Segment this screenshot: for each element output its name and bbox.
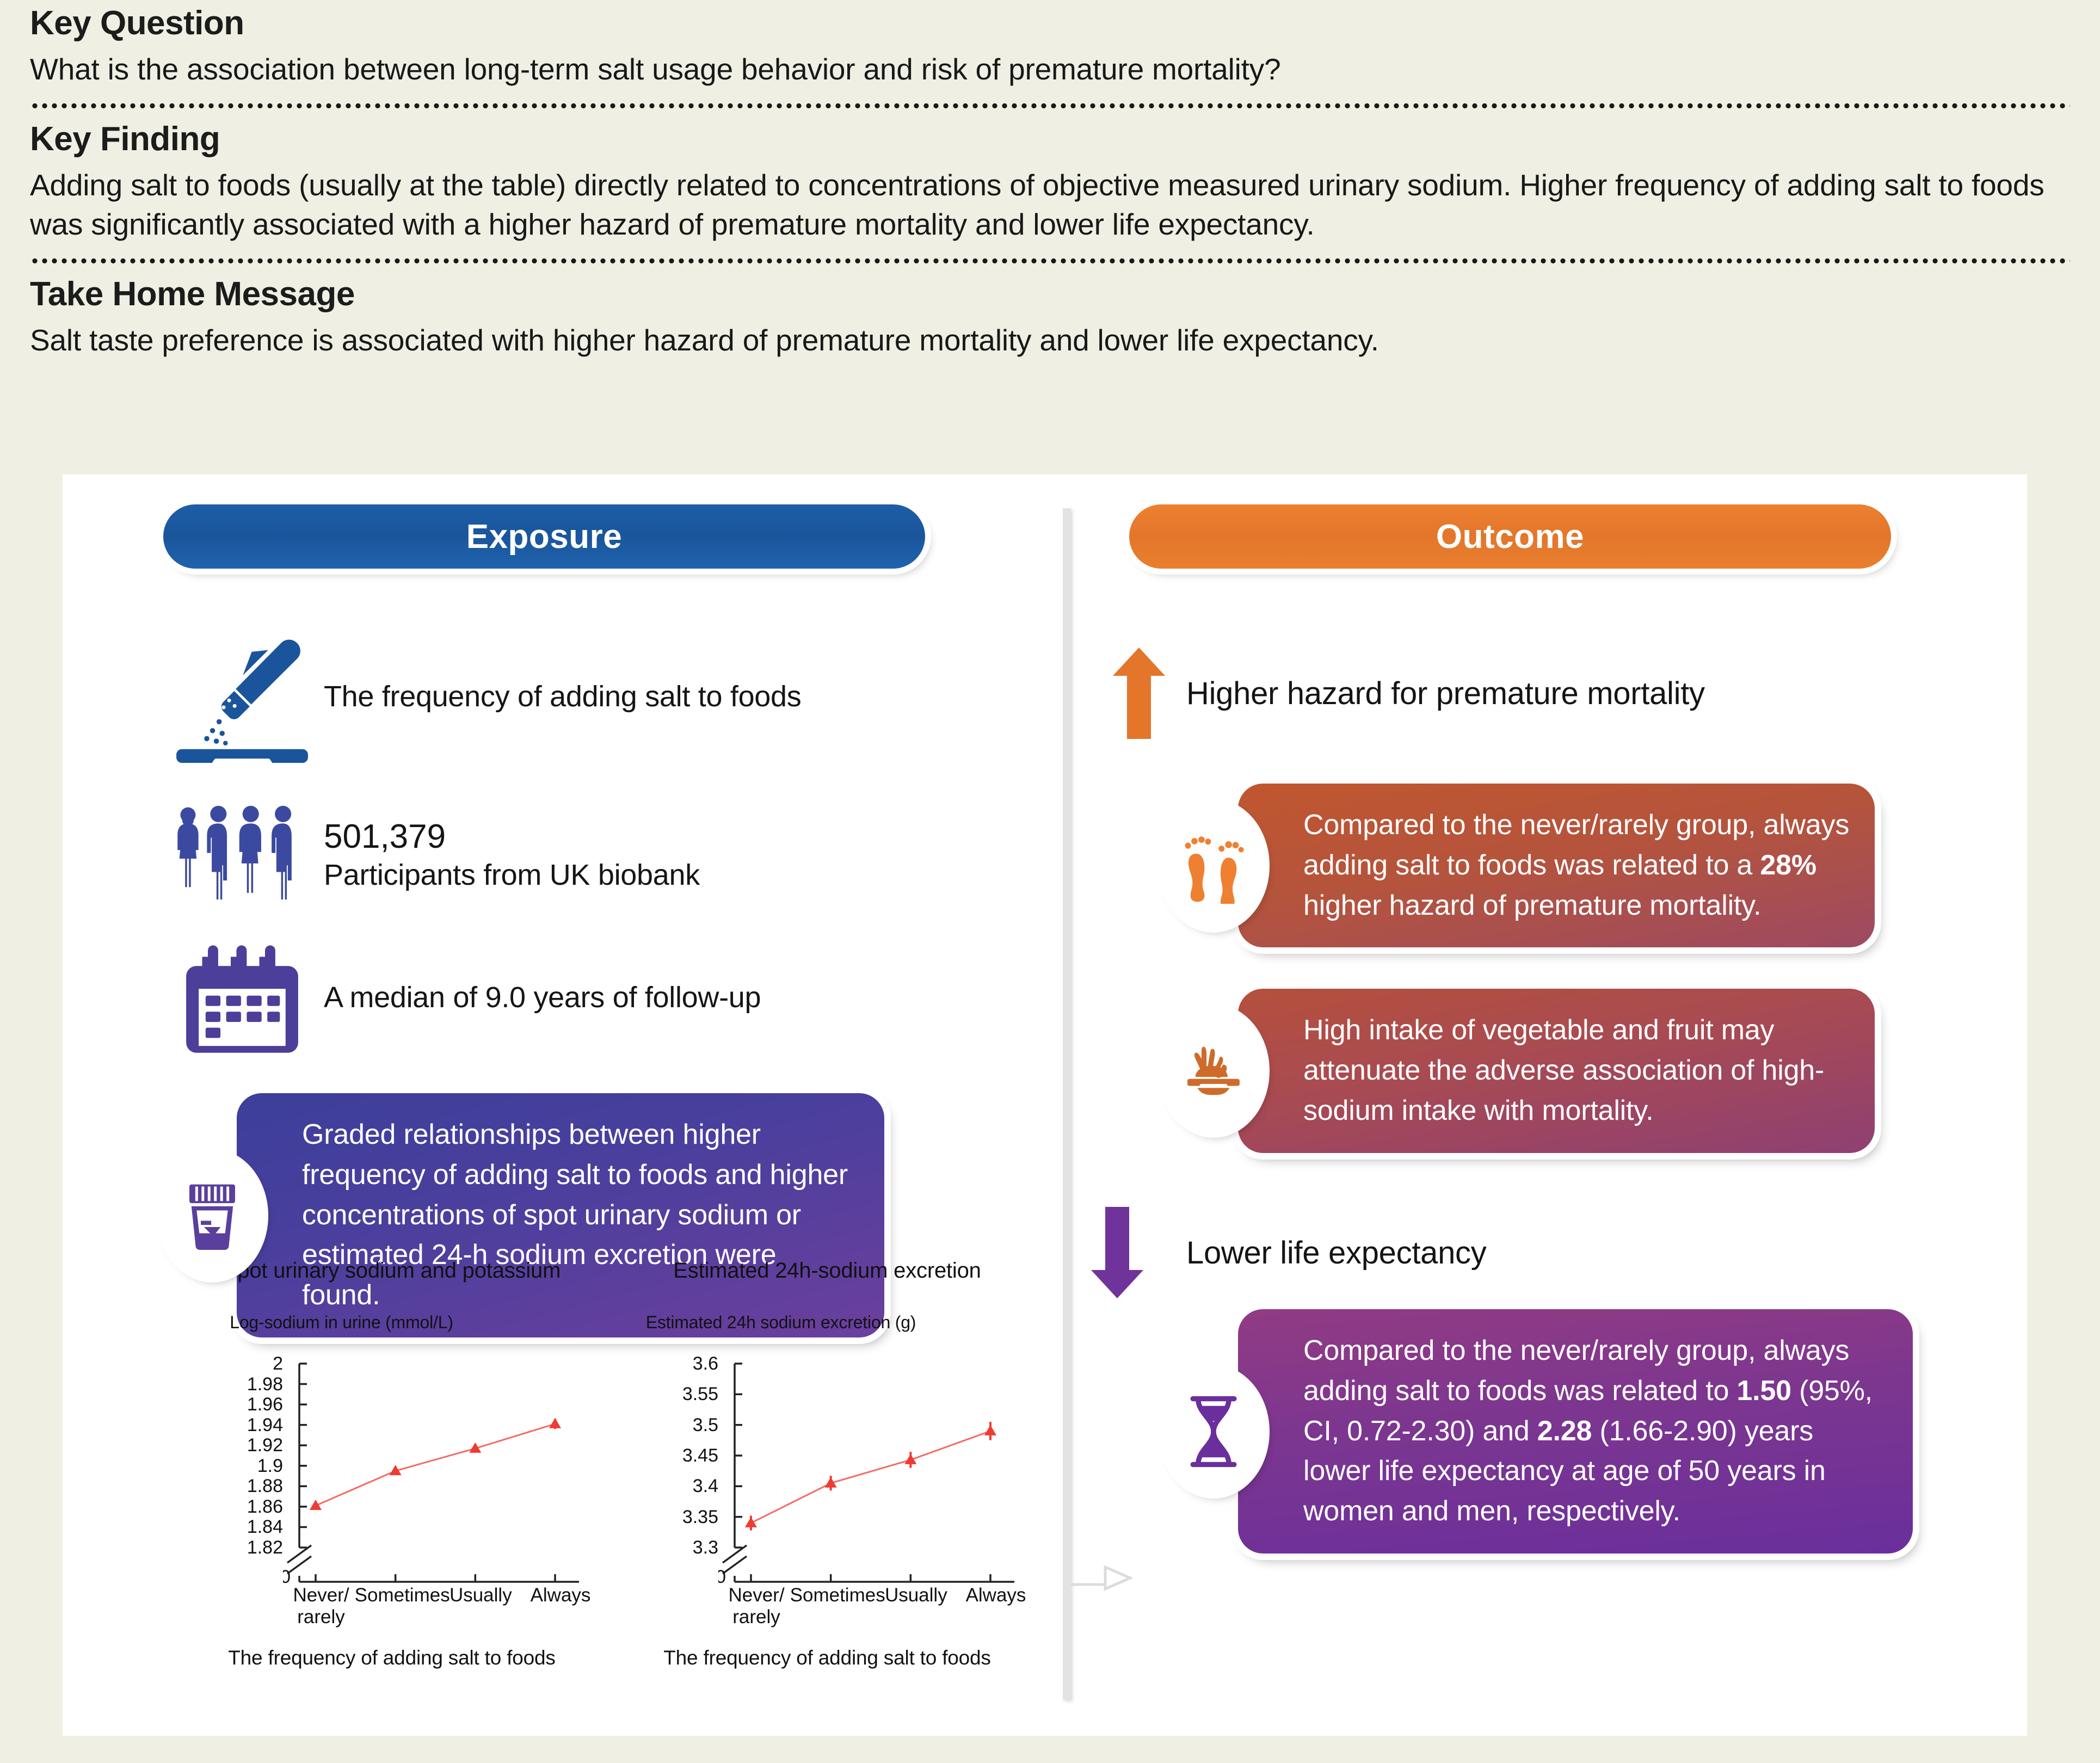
outcome-heading-2-label: Lower life expectancy bbox=[1186, 1235, 1486, 1271]
key-question-title: Key Question bbox=[30, 5, 2070, 41]
divider-dotted-1 bbox=[30, 103, 2070, 108]
chart1-plot: 0 bbox=[283, 1356, 582, 1585]
chart2-x-tick-labels: Never/ rarelySometimesUsuallyAlways bbox=[724, 1585, 1018, 1644]
key-question-body: What is the association between long-ter… bbox=[30, 50, 2070, 89]
key-finding-body: Adding salt to foods (usually at the tab… bbox=[30, 165, 2070, 244]
callout-vegetable-fruit: High intake of vegetable and fruit may a… bbox=[1238, 989, 1875, 1152]
x-tick-label: Never/ rarely bbox=[710, 1585, 803, 1629]
chart2-plot: 0 bbox=[718, 1356, 1018, 1585]
chart1-y-axis-title: Log-sodium in urine (mmol/L) bbox=[101, 1312, 582, 1356]
outcome-heading-higher-hazard: Higher hazard for premature mortality bbox=[1091, 648, 2011, 739]
y-tick-label: 3.45 bbox=[682, 1446, 718, 1465]
arrow-up-icon bbox=[1091, 648, 1186, 739]
svg-text:0: 0 bbox=[283, 1567, 291, 1585]
summary-header: Key Question What is the association bet… bbox=[0, 0, 2100, 360]
svg-text:0: 0 bbox=[718, 1567, 726, 1585]
y-tick-label: 1.98 bbox=[247, 1375, 283, 1394]
chart1-x-tick-labels: Never/ rarelySometimesUsuallyAlways bbox=[288, 1585, 582, 1644]
chart2-y-axis-title: Estimated 24h sodium excretion (g) bbox=[544, 1312, 1018, 1356]
callout-life-expectancy-text: Compared to the never/rarely group, alwa… bbox=[1238, 1309, 1913, 1554]
callout-premature-mortality-text: Compared to the never/rarely group, alwa… bbox=[1238, 784, 1875, 947]
urine-sample-cup-icon bbox=[162, 1154, 263, 1277]
footprints-icon bbox=[1163, 804, 1264, 927]
y-tick-label: 3.4 bbox=[693, 1477, 718, 1495]
y-tick-label: 2 bbox=[273, 1354, 283, 1373]
people-group-icon bbox=[161, 800, 324, 909]
y-tick-label: 1.84 bbox=[247, 1518, 283, 1536]
y-tick-label: 1.96 bbox=[247, 1395, 283, 1414]
exposure-column: Exposure bbox=[95, 474, 1031, 1736]
vegetables-basket-icon bbox=[1163, 1009, 1264, 1132]
y-tick-label: 1.82 bbox=[247, 1538, 283, 1557]
take-home-title: Take Home Message bbox=[30, 276, 2070, 312]
graphical-abstract-panel: Exposure bbox=[63, 474, 2027, 1736]
key-question-section: Key Question What is the association bet… bbox=[30, 0, 2070, 89]
exposure-row-salt-label: The frequency of adding salt to foods bbox=[324, 679, 801, 715]
x-tick-label: Sometimes bbox=[355, 1585, 447, 1606]
x-tick-label: Never/ rarely bbox=[275, 1585, 367, 1629]
y-tick-label: 3.55 bbox=[682, 1385, 718, 1403]
x-tick-label: Sometimes bbox=[790, 1585, 883, 1606]
y-tick-label: 1.88 bbox=[247, 1477, 283, 1495]
chart2-title: Estimated 24h-sodium excretion bbox=[637, 1258, 1018, 1312]
y-tick-label: 3.35 bbox=[682, 1508, 718, 1526]
divider-dotted-2 bbox=[30, 258, 2070, 263]
chart-spot-urinary-sodium: Spot urinary sodium and potassium Log-so… bbox=[201, 1258, 582, 1669]
exposure-row-participants: 501,379 Participants from UK biobank bbox=[161, 800, 1031, 909]
y-tick-label: 3.5 bbox=[693, 1416, 718, 1434]
x-tick-label: Always bbox=[514, 1585, 607, 1606]
key-finding-title: Key Finding bbox=[30, 121, 2070, 157]
participant-count: 501,379 bbox=[324, 816, 700, 858]
calendar-icon bbox=[161, 941, 324, 1055]
arrow-down-icon bbox=[1091, 1207, 1143, 1298]
panel-divider bbox=[1063, 508, 1071, 1700]
salt-shaker-icon bbox=[161, 628, 324, 766]
charts-row: Spot urinary sodium and potassium Log-so… bbox=[201, 1258, 1050, 1669]
y-tick-label: 1.94 bbox=[247, 1416, 283, 1434]
exposure-row-salt-frequency: The frequency of adding salt to foods bbox=[161, 628, 1031, 766]
take-home-message-section: Take Home Message Salt taste preference … bbox=[30, 271, 2070, 360]
chart1-x-axis-title: The frequency of adding salt to foods bbox=[201, 1647, 582, 1669]
y-tick-label: 1.92 bbox=[247, 1436, 283, 1454]
exposure-row-followup-label: A median of 9.0 years of follow-up bbox=[324, 980, 761, 1016]
y-tick-label: 1.86 bbox=[247, 1497, 283, 1516]
callout-premature-mortality: Compared to the never/rarely group, alwa… bbox=[1238, 784, 1875, 947]
chart2-x-axis-title: The frequency of adding salt to foods bbox=[637, 1647, 1018, 1669]
callout-vegetable-fruit-text: High intake of vegetable and fruit may a… bbox=[1238, 989, 1875, 1152]
y-tick-label: 3.6 bbox=[693, 1354, 718, 1373]
chart1-title: Spot urinary sodium and potassium bbox=[201, 1258, 582, 1312]
chart-estimated-24h-sodium: Estimated 24h-sodium excretion Estimated… bbox=[637, 1258, 1018, 1669]
y-tick-label: 1.9 bbox=[257, 1457, 283, 1475]
exposure-pill-header: Exposure bbox=[163, 504, 925, 569]
x-tick-label: Usually bbox=[870, 1585, 962, 1606]
outcome-pill-header: Outcome bbox=[1129, 504, 1891, 569]
key-finding-section: Key Finding Adding salt to foods (usuall… bbox=[30, 116, 2070, 244]
take-home-body: Salt taste preference is associated with… bbox=[30, 320, 2070, 360]
outcome-heading-1-label: Higher hazard for premature mortality bbox=[1186, 675, 1705, 712]
x-tick-label: Always bbox=[950, 1585, 1042, 1606]
y-tick-label: 3.3 bbox=[693, 1538, 718, 1557]
outcome-column: Outcome Higher hazard for premature mort… bbox=[1086, 474, 2011, 1736]
hourglass-icon bbox=[1163, 1370, 1264, 1493]
outcome-heading-lower-life-expectancy: Lower life expectancy bbox=[1091, 1235, 2011, 1271]
participant-source-label: Participants from UK biobank bbox=[324, 859, 700, 891]
exposure-row-followup: A median of 9.0 years of follow-up bbox=[161, 941, 1031, 1055]
callout-life-expectancy: Compared to the never/rarely group, alwa… bbox=[1238, 1309, 1913, 1554]
x-tick-label: Usually bbox=[434, 1585, 527, 1606]
